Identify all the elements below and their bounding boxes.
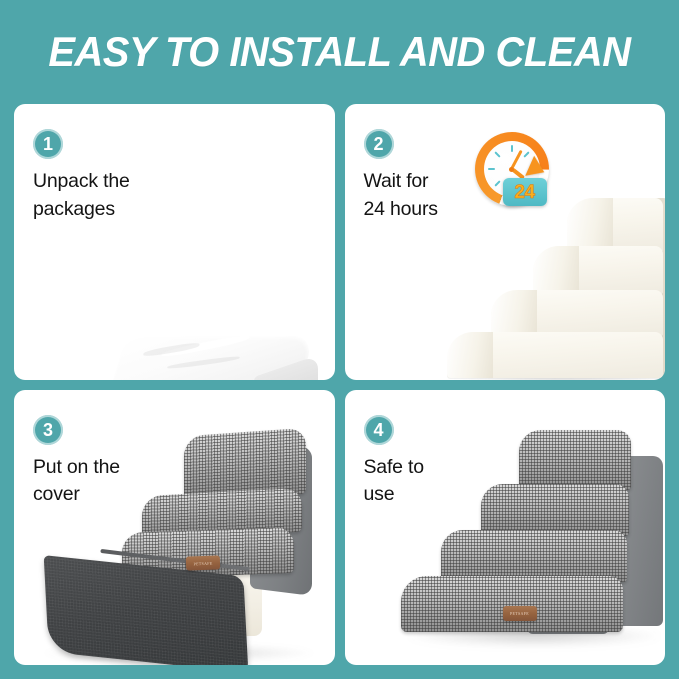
- foam-step-nose: [447, 332, 493, 378]
- foam-step-nose: [533, 246, 579, 294]
- brand-leather-tag: PETSAFE: [503, 606, 537, 621]
- step-caption-4: Safe to use: [364, 454, 424, 509]
- step-caption-3: Put on the cover: [33, 454, 120, 509]
- clock-tick: [488, 168, 495, 170]
- foam-step: [567, 198, 663, 252]
- step-card-2[interactable]: 2 Wait for 24 hours: [345, 104, 666, 380]
- package-body: [104, 336, 318, 380]
- step-caption-2: Wait for 24 hours: [364, 168, 438, 223]
- clock-tick: [523, 151, 529, 157]
- foam-step: [533, 246, 663, 294]
- clock-tick: [511, 145, 513, 152]
- step-badge-4: 4: [364, 415, 394, 445]
- step-badge-1: 1: [33, 129, 63, 159]
- clock-tick: [494, 180, 500, 186]
- step-caption-1: Unpack the packages: [33, 168, 130, 223]
- brand-tag-label: PETSAFE: [193, 560, 212, 566]
- steps-grid: 1 Unpack the packages: [0, 104, 679, 679]
- foam-step-nose: [567, 198, 613, 252]
- foam-step: [491, 290, 663, 336]
- brand-tag-label: PETSAFE: [510, 611, 529, 616]
- stairs-tread: [481, 484, 629, 536]
- clock-tick: [494, 151, 500, 157]
- package-crease: [167, 355, 240, 370]
- stairs-tread: [519, 430, 631, 490]
- finished-pet-stairs-illustration: PETSAFE: [397, 430, 666, 645]
- step-card-4[interactable]: 4 Safe to use PETSAFE: [345, 390, 666, 666]
- foam-step: [447, 332, 663, 378]
- step-badge-2: 2: [364, 129, 394, 159]
- brand-leather-tag: PETSAFE: [186, 555, 220, 570]
- clock-pivot: [509, 167, 514, 172]
- page-title: EASY TO INSTALL AND CLEAN: [48, 28, 630, 76]
- foam-step-nose: [491, 290, 537, 336]
- step-card-1[interactable]: 1 Unpack the packages: [14, 104, 335, 380]
- cream-foam-stairs-illustration: [441, 198, 666, 378]
- title-bar: EASY TO INSTALL AND CLEAN: [0, 0, 679, 104]
- stairs-tread: [441, 530, 627, 582]
- step-badge-3: 3: [33, 415, 63, 445]
- vacuum-package-illustration: [92, 322, 332, 380]
- step-card-3[interactable]: 3 Put on the cover PETSAFE: [14, 390, 335, 666]
- poster-root: EASY TO INSTALL AND CLEAN 1 Unpack the p…: [0, 0, 679, 679]
- stairs-tread: [401, 576, 623, 632]
